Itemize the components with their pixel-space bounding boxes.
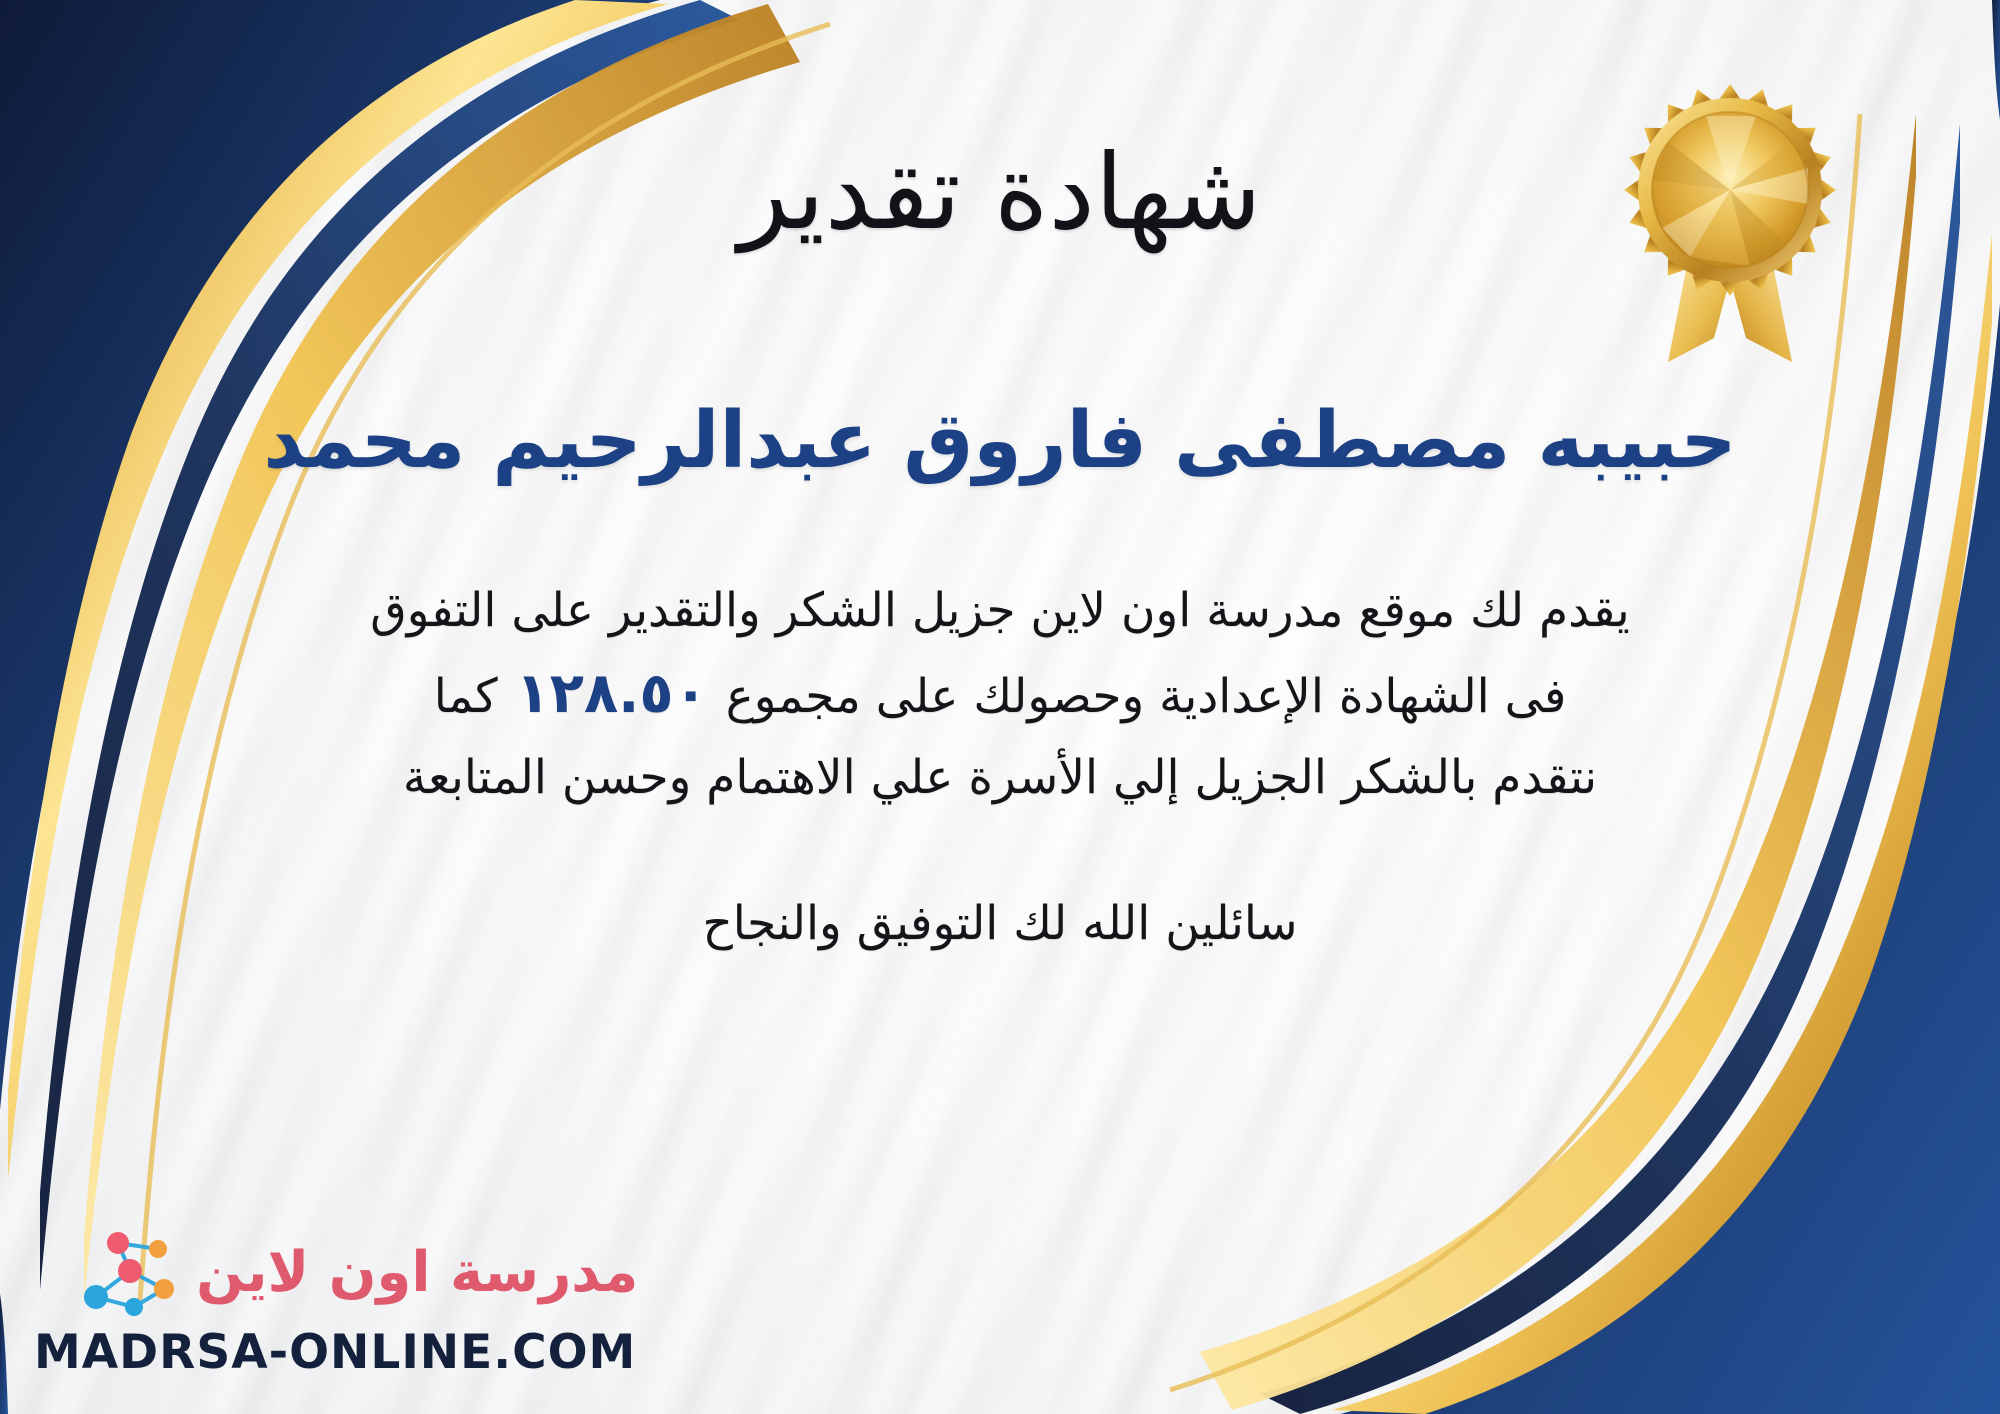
body-line-3: نتقدم بالشكر الجزيل إلي الأسرة علي الاهت… xyxy=(280,740,1720,816)
brand-row: مدرسة اون لاين xyxy=(72,1227,638,1319)
recipient-name: حبيبه مصطفى فاروق عبدالرحيم محمد xyxy=(40,397,1960,487)
gold-rosette-medal-icon xyxy=(1610,50,1850,390)
network-nodes-icon xyxy=(72,1227,184,1319)
certificate-body: يقدم لك موقع مدرسة اون لاين جزيل الشكر و… xyxy=(280,573,1720,816)
closing-line: سائلين الله لك التوفيق والنجاح xyxy=(702,896,1297,951)
brand-logo[interactable]: مدرسة اون لاين MADRSA-ONLINE.COM xyxy=(34,1227,638,1380)
body-line-2-prefix: فى الشهادة الإعدادية وحصولك على مجموع xyxy=(726,669,1567,724)
page-title: شهادة تقدير xyxy=(738,138,1261,247)
body-line-1: يقدم لك موقع مدرسة اون لاين جزيل الشكر و… xyxy=(280,573,1720,649)
body-line-2: فى الشهادة الإعدادية وحصولك على مجموع١٢٨… xyxy=(280,649,1720,740)
brand-arabic-label: مدرسة اون لاين xyxy=(196,1245,638,1301)
score-value: ١٢٨.٥٠ xyxy=(498,661,726,726)
brand-url-label[interactable]: MADRSA-ONLINE.COM xyxy=(34,1325,636,1380)
body-line-2-suffix: كما xyxy=(434,669,498,724)
certificate-page: شهادة تقدير حبيبه مصطفى فاروق عبدالرحيم … xyxy=(0,0,2000,1414)
